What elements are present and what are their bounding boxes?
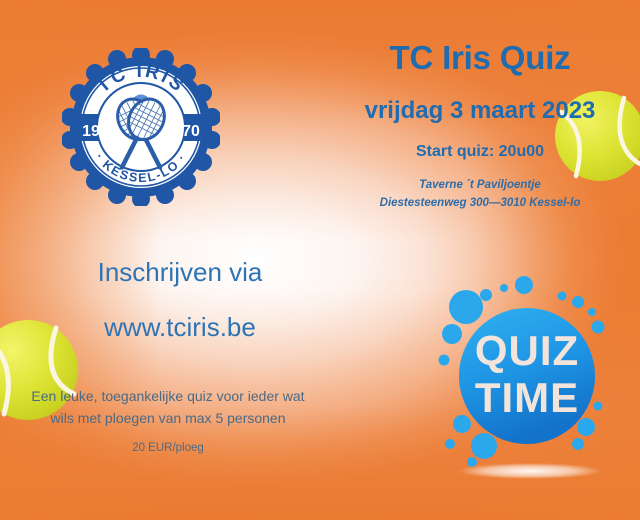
event-date: vrijdag 3 maart 2023 [330,98,630,124]
quiz-poster: TC IRIS · KESSEL-LO · 19 70 [0,0,640,520]
quiz-badge-line-1: QUIZ [475,327,579,374]
page-title: TC Iris Quiz [330,40,630,76]
event-start-time: Start quiz: 20u00 [330,143,630,161]
description-block: Een leuke, toegankelijke quiz voor ieder… [8,386,328,456]
venue-name: Taverne ´t Paviljoentje [330,177,630,195]
badge-year-left: 19 [82,123,100,140]
tc-iris-logo: TC IRIS · KESSEL-LO · 19 70 [62,48,220,206]
signup-block: Inschrijven via www.tciris.be [20,258,340,341]
badge-year-right: 70 [182,123,200,140]
signup-url-link[interactable]: www.tciris.be [20,313,340,342]
price-per-team: 20 EUR/ploeg [8,440,328,456]
quiz-badge-ground-reflection [458,463,602,479]
header-block: TC Iris Quiz vrijdag 3 maart 2023 Start … [330,40,630,213]
description-line-2: wils met ploegen van max 5 personen [8,408,328,430]
signup-prompt: Inschrijven via [20,258,340,287]
quiz-time-badge: QUIZ TIME [426,272,640,502]
quiz-badge-line-2: TIME [475,374,579,421]
venue-address: Diestesteenweg 300—3010 Kessel-lo [330,195,630,213]
description-line-1: Een leuke, toegankelijke quiz voor ieder… [8,386,328,408]
